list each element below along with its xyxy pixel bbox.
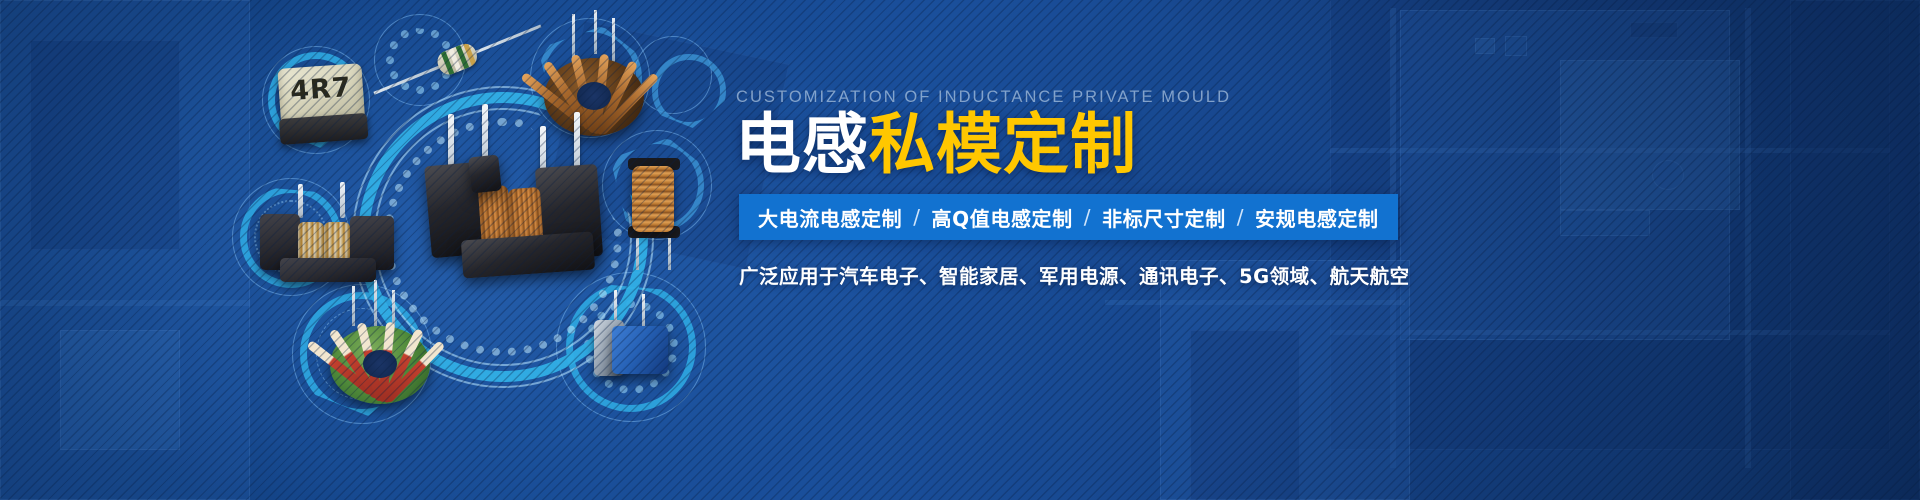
feature-item-2: 高Q值电感定制 [932, 203, 1073, 232]
banner-title-white: 电感 [735, 106, 869, 183]
feature-separator-1: / [902, 205, 931, 229]
banner-tagline: 广泛应用于汽车电子、智能家居、军用电源、通讯电子、5G领域、航天航空 [739, 260, 1410, 289]
drum-core-choke [606, 140, 702, 272]
feature-item-3: 非标尺寸定制 [1102, 203, 1226, 232]
blue-radial-inductor [586, 290, 672, 410]
banner-text-block: CUSTOMIZATION OF INDUCTANCE PRIVATE MOUL… [735, 0, 1435, 500]
feature-pill-bar: 大电流电感定制 / 高Q值电感定制 / 非标尺寸定制 / 安规电感定制 [739, 194, 1398, 240]
product-hero-banner: 4R7 [0, 0, 1920, 500]
banner-title: 电感私模定制 [735, 110, 1137, 180]
feature-item-1: 大电流电感定制 [758, 203, 902, 232]
banner-eyebrow-english: CUSTOMIZATION OF INDUCTANCE PRIVATE MOUL… [736, 88, 1231, 107]
banner-title-gold: 私模定制 [869, 106, 1137, 183]
feature-separator-3: / [1226, 205, 1255, 229]
feature-separator-2: / [1073, 205, 1102, 229]
green-toroid-choke [320, 312, 440, 416]
black-flat-choke [254, 198, 404, 290]
smd-chip-inductor: 4R7 [273, 61, 370, 149]
feature-item-4: 安规电感定制 [1255, 203, 1379, 232]
smd-inductor-code: 4R7 [274, 71, 368, 108]
